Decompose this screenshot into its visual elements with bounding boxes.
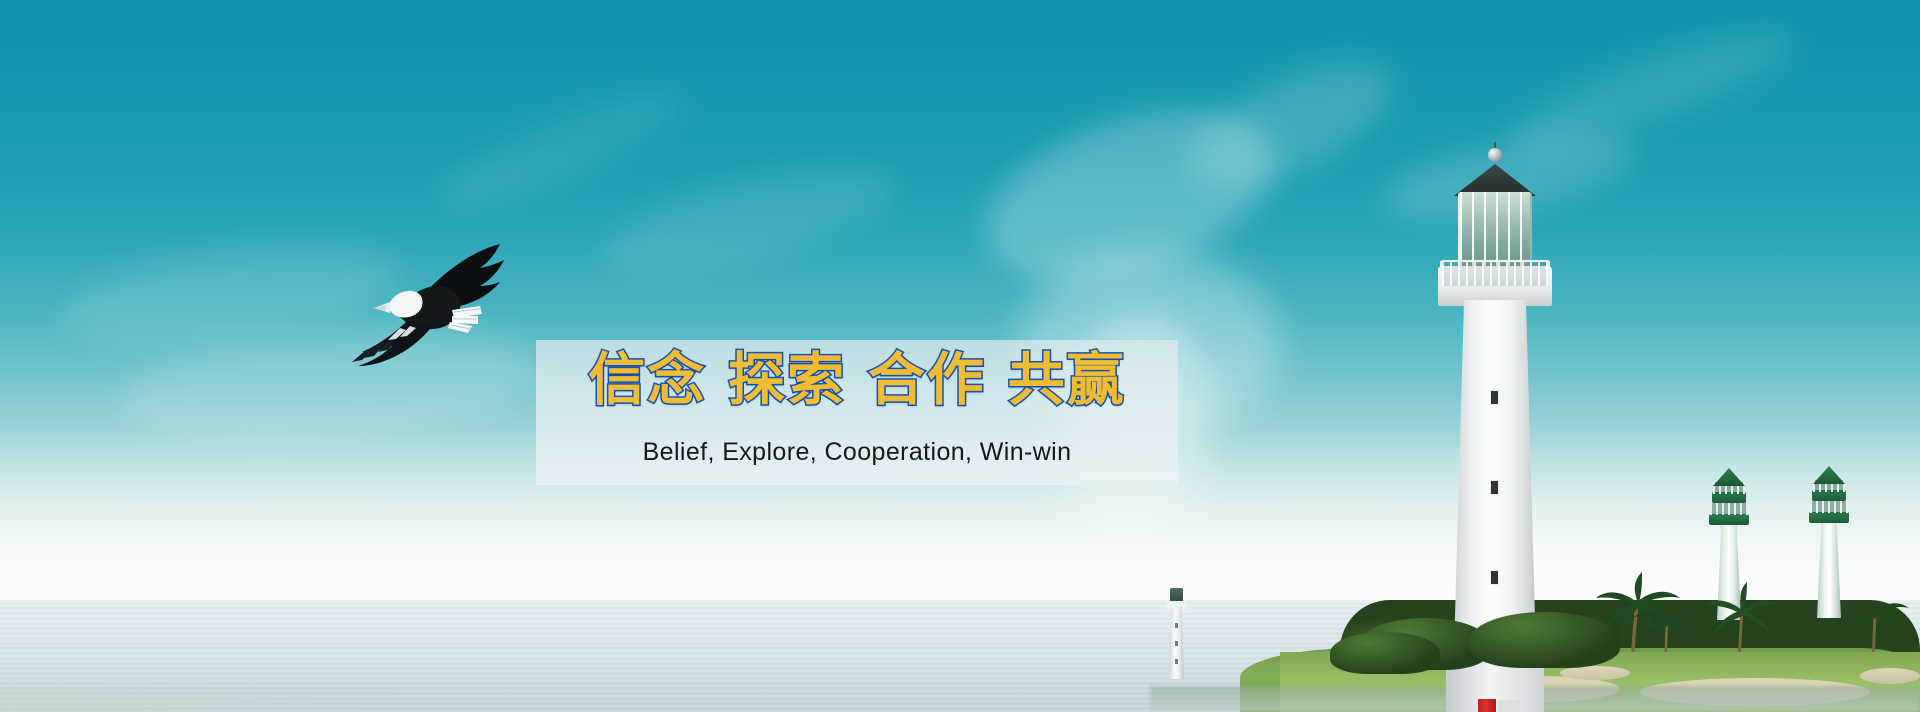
lighthouse-finial <box>1488 148 1502 162</box>
slogan-panel: 信念 探索 合作 共赢 Belief, Explore, Cooperation… <box>536 340 1178 485</box>
eagle-icon <box>348 240 518 370</box>
lighthouse-door <box>1478 696 1496 712</box>
banner-image: 信念 探索 合作 共赢 Belief, Explore, Cooperation… <box>0 0 1920 712</box>
shoreline <box>0 692 400 712</box>
sand-bunker <box>1560 666 1630 680</box>
lighthouse-railing <box>1440 260 1550 286</box>
lighthouse-window <box>1490 570 1499 585</box>
slogan-headline-chinese: 信念 探索 合作 共赢 <box>536 346 1178 416</box>
lighthouse-plaque <box>1498 700 1520 712</box>
slogan-subline-english: Belief, Explore, Cooperation, Win-win <box>536 438 1178 467</box>
lighthouse-lamp-room <box>1458 192 1532 268</box>
lighthouse-window <box>1490 390 1499 405</box>
sand-bunker <box>1860 668 1920 684</box>
bush <box>1470 612 1620 668</box>
bush <box>1330 632 1440 674</box>
distant-lighthouse <box>1160 585 1192 680</box>
lighthouse-window <box>1490 480 1499 495</box>
